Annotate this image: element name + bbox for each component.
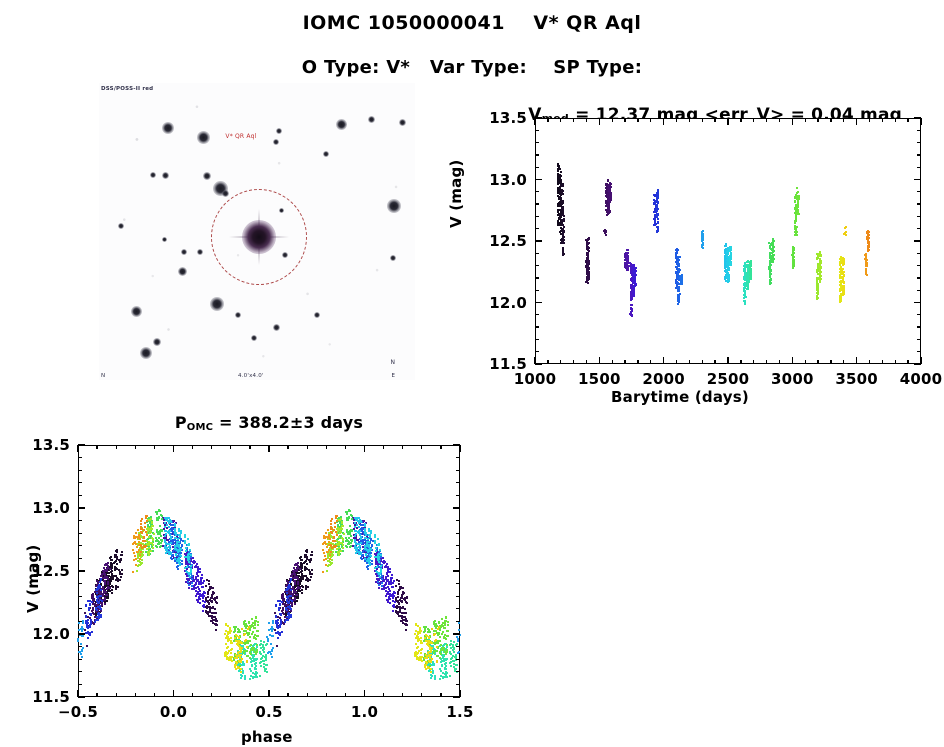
- phase-plot-point: [156, 513, 158, 515]
- phase-plot-point: [269, 634, 271, 636]
- lightcurve-point: [743, 278, 745, 280]
- lightcurve-point: [866, 238, 868, 240]
- lightcurve-point: [657, 218, 659, 220]
- x-minor-tick: [805, 360, 806, 364]
- lightcurve-point: [656, 226, 658, 228]
- phase-plot-point: [338, 547, 340, 549]
- phase-plot-point: [281, 595, 283, 597]
- lightcurve-point: [819, 268, 821, 270]
- x-major-tick-top: [534, 118, 536, 125]
- phase-plot-point: [180, 530, 182, 532]
- phase-plot-point: [440, 644, 442, 646]
- phase-plot-point: [266, 664, 268, 666]
- phase-plot-point: [188, 556, 190, 558]
- phase-plot-point: [289, 599, 291, 601]
- phase-plot-point: [96, 599, 98, 601]
- lightcurve-point: [557, 165, 559, 167]
- phase-plot-point: [380, 571, 382, 573]
- phase-plot-point: [291, 600, 293, 602]
- phase-plot-point: [194, 566, 196, 568]
- phase-plot-point: [279, 624, 281, 626]
- phase-plot-point: [392, 586, 394, 588]
- lightcurve-point: [587, 273, 589, 275]
- phase-plot-point: [78, 629, 80, 631]
- phase-plot-point: [290, 595, 292, 597]
- phase-plot-point: [168, 553, 170, 555]
- phase-plot-point: [275, 605, 277, 607]
- phase-plot-point: [279, 604, 281, 606]
- phase-plot-point: [159, 533, 161, 535]
- phase-plot-point: [253, 627, 255, 629]
- phase-plot-point: [197, 586, 199, 588]
- field-star: [150, 172, 156, 178]
- phase-plot-point: [297, 590, 299, 592]
- phase-plot-point: [214, 623, 216, 625]
- phase-plot-point: [107, 565, 109, 567]
- phase-plot-point: [137, 565, 139, 567]
- lightcurve-point: [843, 288, 845, 290]
- phase-plot-point: [444, 663, 446, 665]
- phase-plot-point: [99, 586, 101, 588]
- x-minor-tick-top: [766, 118, 767, 122]
- lightcurve-point: [796, 187, 798, 189]
- lightcurve-point: [844, 233, 846, 235]
- phase-plot-point: [117, 578, 119, 580]
- phase-plot-point: [248, 622, 250, 624]
- phase-plot-point: [265, 659, 267, 661]
- phase-plot-point: [243, 652, 245, 654]
- lightcurve-point: [678, 294, 680, 296]
- phase-plot-point: [382, 557, 384, 559]
- x-major-tick-top: [599, 118, 601, 125]
- finder-survey-label: DSS/POSS-II red: [101, 86, 153, 92]
- y-major-tick-right: [914, 302, 921, 304]
- phase-plot-point: [263, 651, 265, 653]
- x-minor-tick-top: [689, 118, 690, 122]
- phase-plot-point: [299, 568, 301, 570]
- phase-plot-point: [397, 596, 399, 598]
- y-major-tick: [535, 302, 542, 304]
- lightcurve-point: [750, 265, 752, 267]
- lightcurve-point: [771, 243, 773, 245]
- x-minor-tick: [586, 360, 587, 364]
- phase-plot-point: [443, 649, 445, 651]
- y-minor-tick-right: [917, 339, 921, 340]
- y-minor-tick-right: [917, 228, 921, 229]
- lightcurve-point: [656, 206, 658, 208]
- phase-plot-point: [439, 640, 441, 642]
- lightcurve-point: [772, 238, 774, 240]
- phase-plot-point: [177, 538, 179, 540]
- phase-plot-point: [169, 520, 171, 522]
- phase-plot-point: [401, 597, 403, 599]
- y-minor-tick: [535, 130, 539, 131]
- phase-plot-point: [97, 613, 99, 615]
- phase-plot-point: [309, 561, 311, 563]
- y-major-tick: [535, 363, 542, 365]
- phase-plot-point: [351, 529, 353, 531]
- phase-plot-point: [207, 591, 209, 593]
- phase-plot-point: [208, 583, 210, 585]
- y-major-tick-right: [914, 117, 921, 119]
- phase-plot-point: [302, 578, 304, 580]
- phase-plot-point: [457, 640, 459, 642]
- x-tick-label: 4000: [900, 370, 943, 388]
- lightcurve-point: [816, 298, 818, 300]
- lightcurve-point: [819, 271, 821, 273]
- phase-plot-point: [99, 599, 101, 601]
- phase-plot-point: [336, 540, 338, 542]
- phase-plot-point: [454, 668, 456, 670]
- phase-plot-point: [190, 571, 192, 573]
- phase-plot-point: [349, 530, 351, 532]
- phase-plot-point: [199, 590, 201, 592]
- phase-plot-point: [280, 619, 282, 621]
- phase-plot-point: [370, 539, 372, 541]
- phase-plot-point: [253, 644, 255, 646]
- lightcurve-point: [797, 200, 799, 202]
- lightcurve-point: [748, 281, 750, 283]
- phase-plot-point: [251, 647, 253, 649]
- phase-plot-point: [445, 653, 447, 655]
- phase-plot-point: [187, 581, 189, 583]
- phase-plot-point: [152, 544, 154, 546]
- phase-plot-point: [174, 528, 176, 530]
- phase-plot-point: [402, 592, 404, 594]
- phase-plot-point: [150, 518, 152, 520]
- phase-plot-point: [358, 526, 360, 528]
- phase-plot-point: [191, 578, 193, 580]
- phase-plot-point: [297, 587, 299, 589]
- phase-plot-point: [384, 566, 386, 568]
- phase-plot-point: [349, 533, 351, 535]
- phase-plot-point: [337, 524, 339, 526]
- phase-plot-point: [120, 554, 122, 556]
- phase-plot-point: [100, 595, 102, 597]
- lightcurve-point: [726, 259, 728, 261]
- phase-plot-point: [445, 659, 447, 661]
- x-minor-tick-top: [676, 118, 677, 122]
- phase-plot-point: [169, 530, 171, 532]
- lightcurve-point: [727, 281, 729, 283]
- phase-plot-point: [206, 600, 208, 602]
- phase-plot-point: [349, 525, 351, 527]
- phase-plot-point: [270, 643, 272, 645]
- phase-plot-point: [185, 547, 187, 549]
- lightcurve-point: [634, 267, 636, 269]
- phase-plot-point: [107, 597, 109, 599]
- lightcurve-point: [701, 236, 703, 238]
- phase-plot-point: [368, 546, 370, 548]
- phase-plot-point: [295, 591, 297, 593]
- phase-plot-point: [340, 518, 342, 520]
- lightcurve-point: [770, 279, 772, 281]
- phase-plot-point: [374, 540, 376, 542]
- phase-plot-point: [161, 539, 163, 541]
- phase-plot-point: [112, 578, 114, 580]
- phase-plot-point: [254, 637, 256, 639]
- lightcurve-point: [560, 179, 562, 181]
- phase-plot-point: [277, 631, 279, 633]
- x-minor-tick: [714, 360, 715, 364]
- x-major-tick: [599, 357, 601, 364]
- phase-plot-point: [164, 547, 166, 549]
- phase-plot-point: [242, 672, 244, 674]
- x-minor-tick: [843, 360, 844, 364]
- phase-plot-point: [138, 560, 140, 562]
- lightcurve-point: [866, 274, 868, 276]
- lightcurve-point: [728, 277, 730, 279]
- lightcurve-point: [771, 260, 773, 262]
- phase-plot-point: [287, 613, 289, 615]
- phase-plot-point: [304, 567, 306, 569]
- y-minor-tick: [535, 265, 539, 266]
- x-minor-tick: [869, 360, 870, 364]
- lightcurve-point: [819, 252, 821, 254]
- phase-plot-point: [297, 565, 299, 567]
- phase-plot-point: [452, 660, 454, 662]
- phase-plot-point: [170, 538, 172, 540]
- lightcurve-point: [773, 246, 775, 248]
- phase-plot-point: [112, 575, 114, 577]
- phase-plot-point: [395, 585, 397, 587]
- phase-plot-point: [387, 566, 389, 568]
- phase-plot-point: [445, 671, 447, 673]
- phase-plot-point: [375, 550, 377, 552]
- phase-plot-point: [256, 676, 258, 678]
- y-minor-tick: [535, 228, 539, 229]
- phase-plot-point: [430, 677, 432, 679]
- phase-plot-point: [249, 668, 251, 670]
- x-minor-tick: [637, 360, 638, 364]
- phase-plot-point: [437, 642, 439, 644]
- phase-plot-point: [445, 665, 447, 667]
- field-star: [390, 255, 396, 261]
- phase-plot-point: [87, 631, 89, 633]
- y-minor-tick: [535, 167, 539, 168]
- phase-plot-point: [348, 537, 350, 539]
- phase-plot-point: [404, 597, 406, 599]
- y-minor-tick: [535, 154, 539, 155]
- phase-plot-point: [174, 558, 176, 560]
- phase-plot-point: [447, 630, 449, 632]
- x-minor-tick: [753, 360, 754, 364]
- x-minor-tick-top: [869, 118, 870, 122]
- x-minor-tick-top: [547, 118, 548, 122]
- aperture-circle: [211, 189, 307, 285]
- phase-plot-point: [277, 637, 279, 639]
- phase-plot-point: [405, 620, 407, 622]
- phase-plot-point: [268, 629, 270, 631]
- y-minor-tick-right: [917, 277, 921, 278]
- phase-plot-point: [364, 523, 366, 525]
- phase-plot-point: [365, 534, 367, 536]
- phase-plot-point: [431, 675, 433, 677]
- phase-plot-point: [433, 663, 435, 665]
- phase-plot-point: [96, 609, 98, 611]
- phase-plot-point: [326, 570, 328, 572]
- phase-plot-point: [186, 566, 188, 568]
- phase-plot-point: [297, 583, 299, 585]
- field-star: [197, 131, 210, 144]
- field-star: [399, 119, 406, 126]
- phase-plot-point: [270, 653, 272, 655]
- phase-plot-point: [378, 556, 380, 558]
- phase-plot-point: [394, 592, 396, 594]
- phase-plot-point: [387, 586, 389, 588]
- phase-plot-point: [82, 622, 84, 624]
- phase-plot-point: [104, 603, 106, 605]
- phase-plot-point: [195, 578, 197, 580]
- phase-plot-point: [90, 619, 92, 621]
- phase-plot-point: [381, 582, 383, 584]
- x-minor-tick-top: [573, 118, 574, 122]
- phase-plot-point: [265, 644, 267, 646]
- phase-plot-point: [359, 520, 361, 522]
- x-minor-tick: [624, 360, 625, 364]
- phase-plot-point: [283, 623, 285, 625]
- x-minor-tick-top: [624, 118, 625, 122]
- phase-plot-point: [398, 583, 400, 585]
- phase-plot-point: [89, 624, 91, 626]
- phase-plot-point: [98, 602, 100, 604]
- lightcurve-point: [677, 298, 679, 300]
- phase-plot-point: [233, 626, 235, 628]
- phase-plot-point: [102, 588, 104, 590]
- x-minor-tick-top: [907, 118, 908, 122]
- phase-plot-point: [405, 629, 407, 631]
- phase-plot-point: [442, 657, 444, 659]
- x-major-tick: [663, 357, 665, 364]
- phase-plot-point: [199, 598, 201, 600]
- phase-plot-point: [164, 535, 166, 537]
- phase-plot-point: [104, 599, 106, 601]
- y-major-tick: [535, 179, 542, 181]
- phase-plot-point: [271, 649, 273, 651]
- period-symbol: P: [175, 413, 187, 432]
- lightcurve-point: [560, 171, 562, 173]
- phase-plot-point: [447, 624, 449, 626]
- lightcurve-point: [677, 300, 679, 302]
- x-minor-tick: [882, 360, 883, 364]
- x-major-tick-top: [727, 118, 729, 125]
- x-minor-tick-top: [895, 118, 896, 122]
- phase-plot-point: [292, 588, 294, 590]
- finder-corner-label: N: [101, 373, 105, 379]
- phase-plot-point: [252, 660, 254, 662]
- phase-plot-point: [390, 577, 392, 579]
- y-minor-tick: [535, 191, 539, 192]
- phase-plot-point: [351, 539, 353, 541]
- lightcurve-point: [633, 294, 635, 296]
- lightcurve-point: [657, 197, 659, 199]
- phase-plot-point: [377, 554, 379, 556]
- y-minor-tick: [535, 253, 539, 254]
- phase-plot-point: [241, 675, 243, 677]
- phase-plot-point: [342, 525, 344, 527]
- x-tick-label: 3500: [835, 370, 878, 388]
- phase-plot-point: [439, 629, 441, 631]
- lightcurve-point: [626, 258, 628, 260]
- phase-plot-point: [256, 635, 258, 637]
- phase-plot-point: [176, 541, 178, 543]
- phase-plot-point: [290, 578, 292, 580]
- lightcurve-point: [563, 218, 565, 220]
- lightcurve-point: [795, 232, 797, 234]
- phase-plot-point: [96, 592, 98, 594]
- phase-plot-point: [434, 630, 436, 632]
- page-title: IOMC 1050000041 V* QR Aql: [0, 12, 944, 34]
- phase-plot-point: [168, 526, 170, 528]
- lightcurve-point: [631, 308, 633, 310]
- x-major-tick-top: [663, 118, 665, 125]
- y-minor-tick-right: [917, 154, 921, 155]
- lightcurve-point: [562, 247, 564, 249]
- phase-plot-point: [341, 542, 343, 544]
- phase-plot-point: [358, 553, 360, 555]
- phase-plot-point: [244, 630, 246, 632]
- lightcurve-point: [560, 216, 562, 218]
- lightcurve-point: [770, 282, 772, 284]
- lightcurve-point: [747, 288, 749, 290]
- phase-plot-point: [84, 612, 86, 614]
- phase-plot-point: [151, 537, 153, 539]
- lightcurve-point: [633, 270, 635, 272]
- lightcurve-point: [559, 168, 561, 170]
- lightcurve-point: [844, 227, 846, 229]
- lightcurve-point: [677, 249, 679, 251]
- phase-plot-point: [276, 645, 278, 647]
- phase-plot-point: [378, 561, 380, 563]
- x-major-tick: [856, 357, 858, 364]
- phase-plot-point: [179, 550, 181, 552]
- phase-plot-point: [266, 636, 268, 638]
- phase-plot-point: [147, 524, 149, 526]
- lightcurve-point: [792, 265, 794, 267]
- y-minor-tick: [535, 142, 539, 143]
- x-tick-label: 2500: [707, 370, 750, 388]
- phase-plot-point: [155, 537, 157, 539]
- phase-plot-point: [389, 571, 391, 573]
- phase-plot-point: [212, 587, 214, 589]
- phase-plot-point: [305, 556, 307, 558]
- phase-plot-point: [240, 677, 242, 679]
- phase-plot-point: [190, 565, 192, 567]
- phase-plot-point: [272, 622, 274, 624]
- phase-plot-point: [178, 562, 180, 564]
- phase-plot-point: [331, 553, 333, 555]
- phase-plot-point: [107, 590, 109, 592]
- lightcurve-point: [563, 236, 565, 238]
- phase-plot-point: [389, 602, 391, 604]
- phase-plot-point: [402, 607, 404, 609]
- phase-plot-point: [396, 600, 398, 602]
- phase-plot-point: [445, 617, 447, 619]
- phase-plot-point: [87, 616, 89, 618]
- lightcurve-point: [680, 281, 682, 283]
- phase-plot-point: [300, 571, 302, 573]
- y-minor-tick-right: [917, 351, 921, 352]
- x-minor-tick-top: [586, 118, 587, 122]
- phase-plot-point: [447, 621, 449, 623]
- y-tick-label: 12.0: [489, 294, 527, 312]
- phase-plot-point: [384, 561, 386, 563]
- phase-plot-point: [206, 612, 208, 614]
- lightcurve-point: [867, 248, 869, 250]
- field-star: [276, 128, 282, 134]
- phase-plot-point: [249, 629, 251, 631]
- x-minor-tick: [573, 360, 574, 364]
